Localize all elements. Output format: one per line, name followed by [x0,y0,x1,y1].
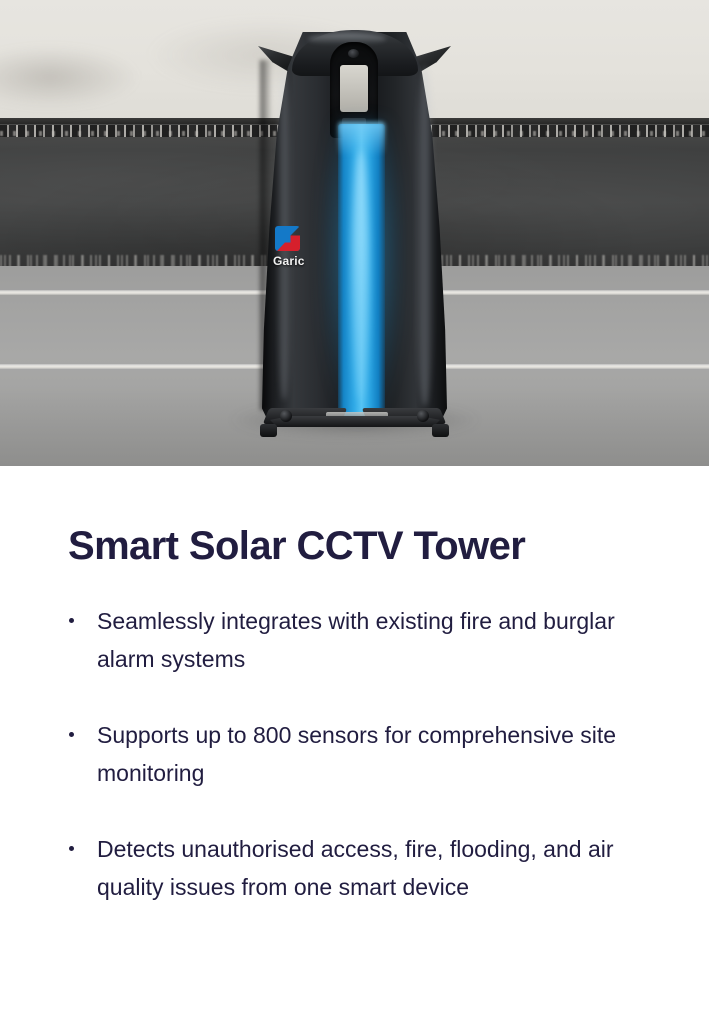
list-item: Seamlessly integrates with existing fire… [68,602,657,678]
garic-logo-icon [275,226,300,251]
garic-wordmark: Garic [273,254,331,268]
feature-bullet-list: Seamlessly integrates with existing fire… [0,568,709,906]
sensor-panel [340,65,368,112]
tower-left-edge-shadow [260,60,272,410]
hero-product-photo: Garic [0,0,709,466]
list-item: Supports up to 800 sensors for comprehen… [68,716,657,792]
blue-light-core [352,150,369,400]
page-title: Smart Solar CCTV Tower [0,466,709,568]
bullet-dot-icon [69,618,74,623]
base-knob-left [280,410,292,422]
list-item: Detects unauthorised access, fire, flood… [68,830,657,906]
tower-right-highlight [415,66,435,406]
list-item-text: Detects unauthorised access, fire, flood… [97,836,614,900]
base-front-bar [270,416,440,427]
base-foot-left [260,424,277,437]
garic-brand-lockup: Garic [273,226,331,268]
bullet-dot-icon [69,732,74,737]
wall-smudge [0,46,140,108]
tower-base-stand [258,402,451,440]
bullet-dot-icon [69,846,74,851]
camera-lens-icon [348,49,359,58]
list-item-text: Supports up to 800 sensors for comprehen… [97,722,616,786]
list-item-text: Seamlessly integrates with existing fire… [97,608,615,672]
product-feature-card: Garic Smart Solar CCTV Tower Seamlessly … [0,0,709,1024]
base-knob-right [417,410,429,422]
product-text-block: Smart Solar CCTV Tower Seamlessly integr… [0,466,709,906]
base-foot-right [432,424,449,437]
cctv-tower-device: Garic [252,30,457,430]
